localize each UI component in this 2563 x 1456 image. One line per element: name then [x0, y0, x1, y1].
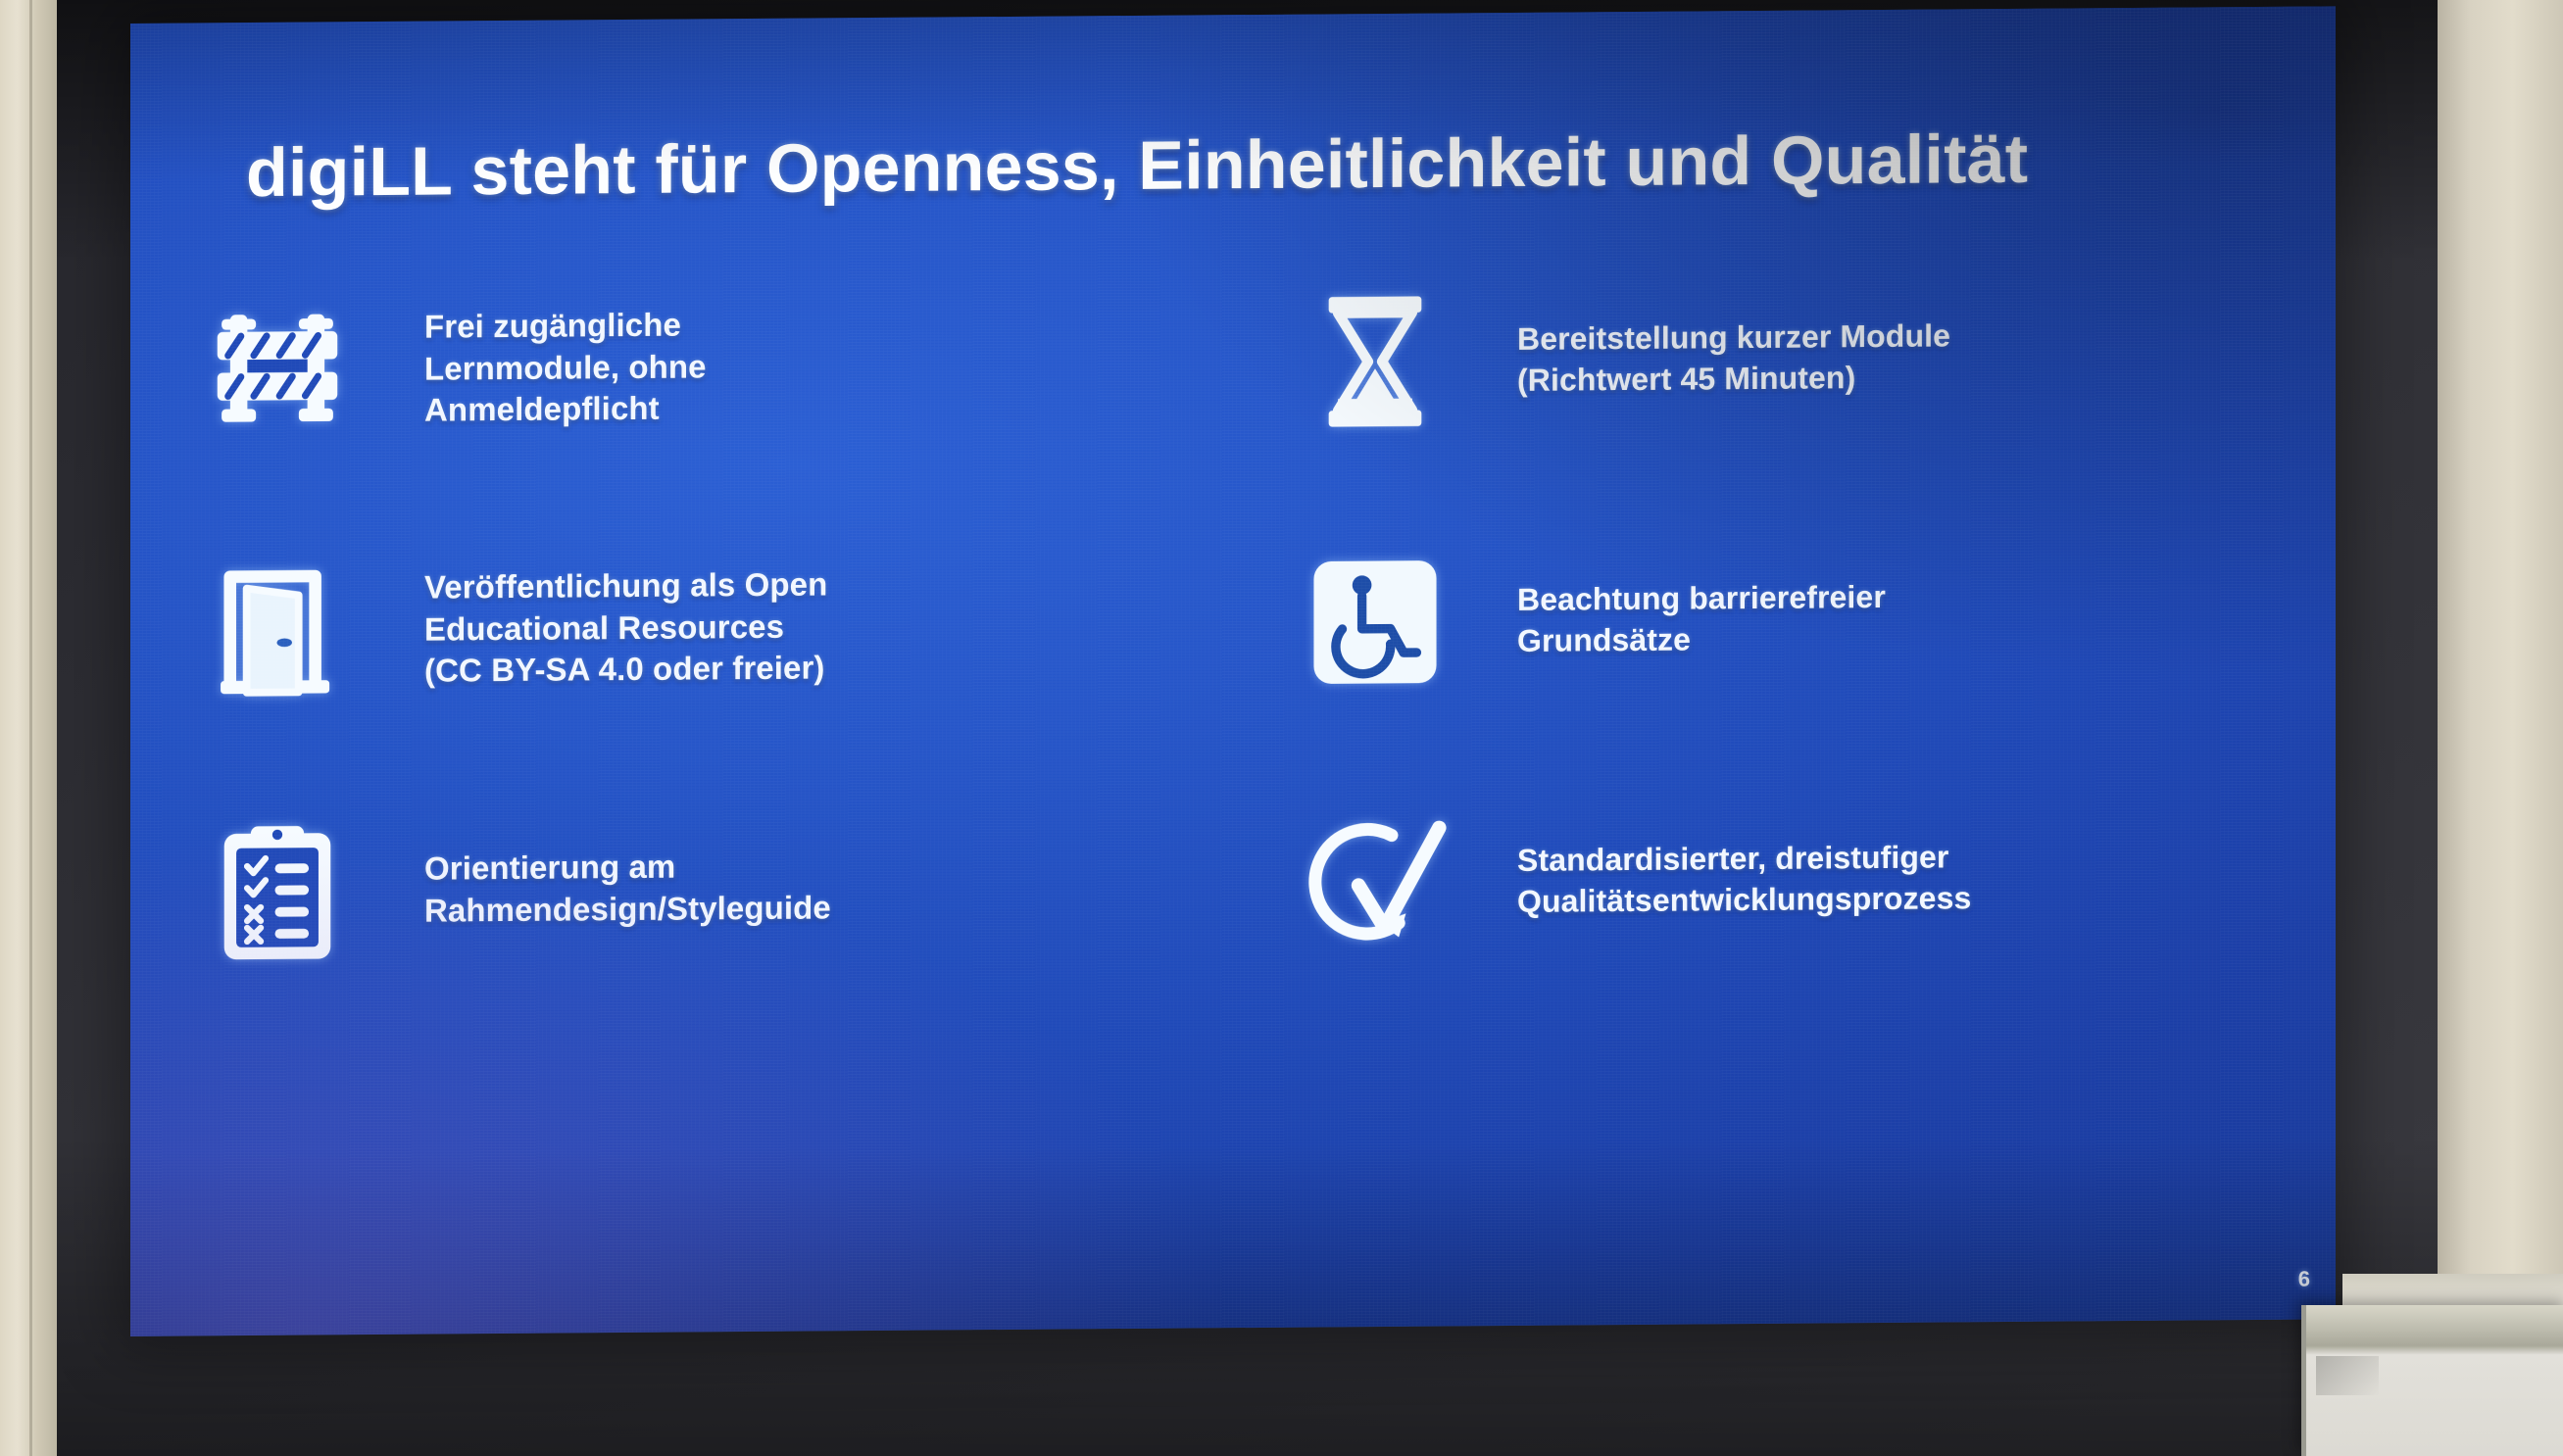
feature-text-line: Qualitätsentwicklungsprozess: [1517, 878, 1971, 922]
flipchart-corner: [2301, 1305, 2563, 1456]
feature-text-line: Standardisierter, dreistufiger: [1517, 838, 1971, 882]
wall-right: [2438, 0, 2563, 1358]
feature-row: Frei zugängliche Lernmodule, ohne Anmeld…: [130, 223, 2336, 502]
feature-row: Veröffentlichung als Open Educational Re…: [130, 484, 2336, 762]
feature-text-line: Veröffentlichung als Open: [424, 563, 827, 608]
wall-left: [0, 0, 57, 1456]
feature-text-line: Educational Resources: [424, 606, 827, 651]
feature-text-line: Rahmendesign/Styleguide: [424, 887, 831, 932]
presentation-room-photo: digiLL steht für Openness, Einheitlichke…: [0, 0, 2563, 1456]
feature-text: Orientierung am Rahmendesign/Styleguide: [424, 845, 831, 932]
clipboard-checklist-icon: [130, 818, 424, 965]
slide-title: digiLL steht für Openness, Einheitlichke…: [246, 120, 2028, 212]
projected-slide: digiLL steht für Openness, Einheitlichke…: [130, 6, 2336, 1336]
feature-text-line: Frei zugängliche: [424, 304, 707, 348]
feature-text-line: (Richtwert 45 Minuten): [1517, 357, 1950, 401]
feature-text: Frei zugängliche Lernmodule, ohne Anmeld…: [424, 304, 707, 432]
feature-text-line: (CC BY-SA 4.0 oder freier): [424, 648, 827, 693]
feature-grid: Frei zugängliche Lernmodule, ohne Anmeld…: [130, 223, 2336, 1023]
slide-page-number: 6: [2298, 1267, 2310, 1292]
feature-text-line: Lernmodule, ohne: [424, 346, 707, 390]
hourglass-icon: [1233, 291, 1517, 432]
feature-item-open-door: Veröffentlichung als Open Educational Re…: [130, 493, 1233, 762]
flipchart-top-edge: [2342, 1274, 2563, 1309]
feature-item-styleguide: Orientierung am Rahmendesign/Styleguide: [130, 753, 1233, 1023]
road-barrier-icon: [130, 301, 424, 440]
feature-text: Bereitstellung kurzer Module (Richtwert …: [1517, 316, 1950, 402]
feature-text-line: Bereitstellung kurzer Module: [1517, 316, 1950, 361]
feature-item-quality-process: Standardisierter, dreistufiger Qualitäts…: [1233, 745, 2336, 1014]
feature-item-hourglass: Bereitstellung kurzer Module (Richtwert …: [1233, 223, 2336, 493]
open-door-icon: [130, 561, 424, 701]
feature-item-barrier: Frei zugängliche Lernmodule, ohne Anmeld…: [130, 232, 1233, 502]
feature-item-accessibility: Beachtung barrierefreier Grundsätze: [1233, 484, 2336, 753]
feature-text-line: Anmeldepflicht: [424, 388, 707, 432]
wheelchair-accessibility-icon: [1233, 556, 1517, 689]
feature-text: Veröffentlichung als Open Educational Re…: [424, 563, 827, 693]
feature-text-line: Beachtung barrierefreier: [1517, 577, 1886, 621]
feature-text-line: Orientierung am: [424, 845, 831, 890]
feature-text: Beachtung barrierefreier Grundsätze: [1517, 577, 1886, 661]
cycle-check-icon: [1233, 808, 1517, 957]
feature-text: Standardisierter, dreistufiger Qualitäts…: [1517, 838, 1971, 923]
feature-row: Orientierung am Rahmendesign/Styleguide: [130, 745, 2336, 1023]
feature-text-line: Grundsätze: [1517, 618, 1886, 662]
